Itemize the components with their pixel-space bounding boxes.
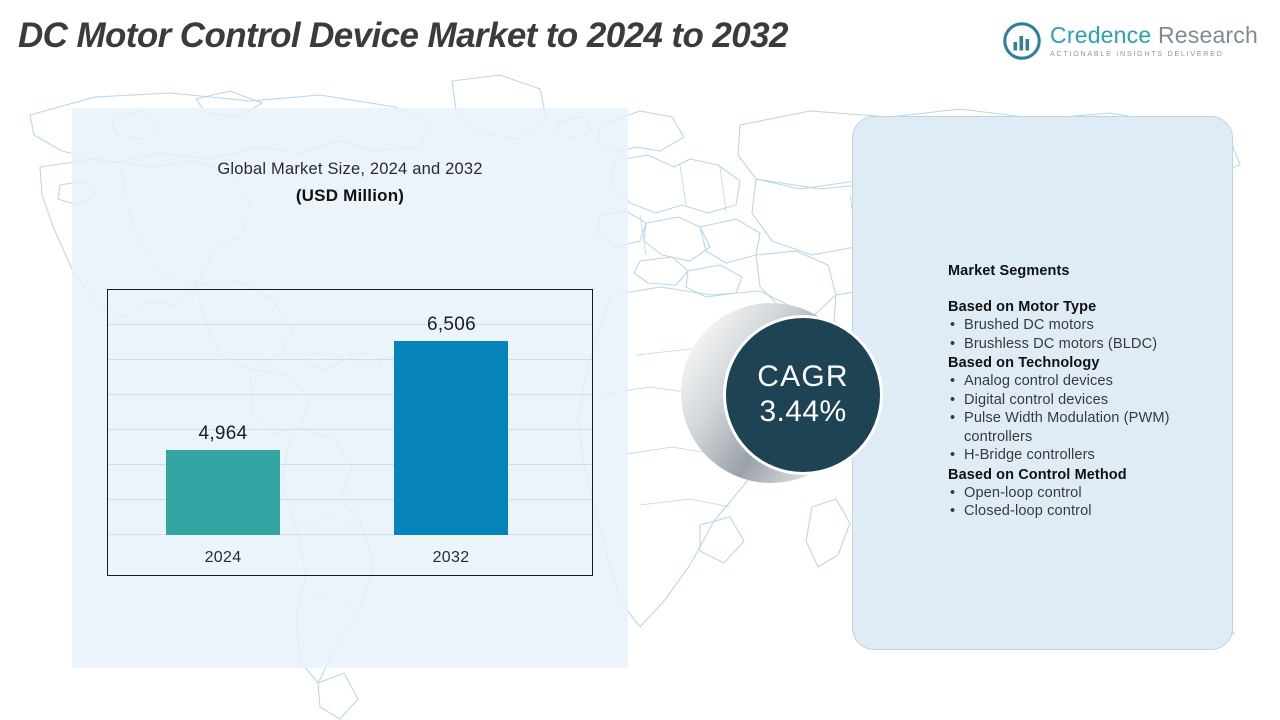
bar-value-label-2024: 4,964 xyxy=(138,423,308,445)
list-item: •Analog control devices xyxy=(948,372,1238,391)
segment-group-heading-motor-type: Based on Motor Type xyxy=(948,299,1238,315)
gridline xyxy=(108,359,592,360)
cagr-badge: CAGR 3.44% xyxy=(681,303,896,498)
gridline xyxy=(108,394,592,395)
bullet-icon: • xyxy=(950,484,955,503)
list-item: •Open-loop control xyxy=(948,484,1238,503)
list-item-label: Analog control devices xyxy=(964,373,1113,389)
segment-list-technology: •Analog control devices •Digital control… xyxy=(948,372,1238,465)
chart-heading-line1: Global Market Size, 2024 and 2032 xyxy=(72,160,628,179)
bullet-icon: • xyxy=(950,446,955,465)
list-item-label: Brushed DC motors xyxy=(964,317,1094,333)
bullet-icon: • xyxy=(950,372,955,391)
list-item-label: Open-loop control xyxy=(964,485,1082,501)
segments-title: Market Segments xyxy=(948,263,1238,279)
bullet-icon: • xyxy=(950,502,955,521)
bullet-icon: • xyxy=(950,391,955,410)
brand-logo: Credence Research Actionable Insights De… xyxy=(1003,22,1258,60)
list-item-label: H-Bridge controllers xyxy=(964,447,1095,463)
list-item-label: Closed-loop control xyxy=(964,503,1092,519)
chart-heading: Global Market Size, 2024 and 2032 (USD M… xyxy=(72,160,628,206)
bar-2032 xyxy=(394,341,508,535)
segment-list-motor-type: •Brushed DC motors •Brushless DC motors … xyxy=(948,316,1238,353)
category-label-2032: 2032 xyxy=(366,549,536,567)
bar-chart: Global Market Size, 2024 and 2032 (USD M… xyxy=(72,108,628,668)
chart-heading-line2: (USD Million) xyxy=(72,186,628,206)
bullet-icon: • xyxy=(950,335,955,354)
cagr-label: CAGR xyxy=(757,361,848,393)
segment-list-control-method: •Open-loop control •Closed-loop control xyxy=(948,484,1238,521)
bar-2024 xyxy=(166,450,280,535)
list-item-label: Pulse Width Modulation (PWM) controllers xyxy=(964,410,1170,445)
category-label-2024: 2024 xyxy=(138,549,308,567)
list-item: •Brushless DC motors (BLDC) xyxy=(948,335,1238,354)
market-segments: Market Segments Based on Motor Type •Bru… xyxy=(948,263,1238,522)
bullet-icon: • xyxy=(950,316,955,335)
segment-group-heading-technology: Based on Technology xyxy=(948,355,1238,371)
list-item: •Pulse Width Modulation (PWM) controller… xyxy=(948,409,1238,446)
header: DC Motor Control Device Market to 2024 t… xyxy=(0,0,1280,74)
list-item: •H-Bridge controllers xyxy=(948,446,1238,465)
bar-value-label-2032: 6,506 xyxy=(309,314,593,336)
chart-plot-area: 4,964 2024 6,506 2032 xyxy=(107,289,593,576)
logo-name-primary: Credence xyxy=(1050,22,1151,48)
list-item: •Closed-loop control xyxy=(948,502,1238,521)
list-item-label: Brushless DC motors (BLDC) xyxy=(964,336,1157,352)
cagr-circle: CAGR 3.44% xyxy=(723,315,883,475)
cagr-value: 3.44% xyxy=(759,395,846,430)
bar-chart-circle-icon xyxy=(1003,22,1041,60)
logo-tagline: Actionable Insights Delivered xyxy=(1050,50,1258,57)
logo-name-secondary: Research xyxy=(1151,22,1258,48)
bullet-icon: • xyxy=(950,409,955,428)
page-title: DC Motor Control Device Market to 2024 t… xyxy=(18,16,788,56)
list-item: •Digital control devices xyxy=(948,391,1238,410)
list-item: •Brushed DC motors xyxy=(948,316,1238,335)
segment-group-heading-control-method: Based on Control Method xyxy=(948,467,1238,483)
list-item-label: Digital control devices xyxy=(964,392,1108,408)
